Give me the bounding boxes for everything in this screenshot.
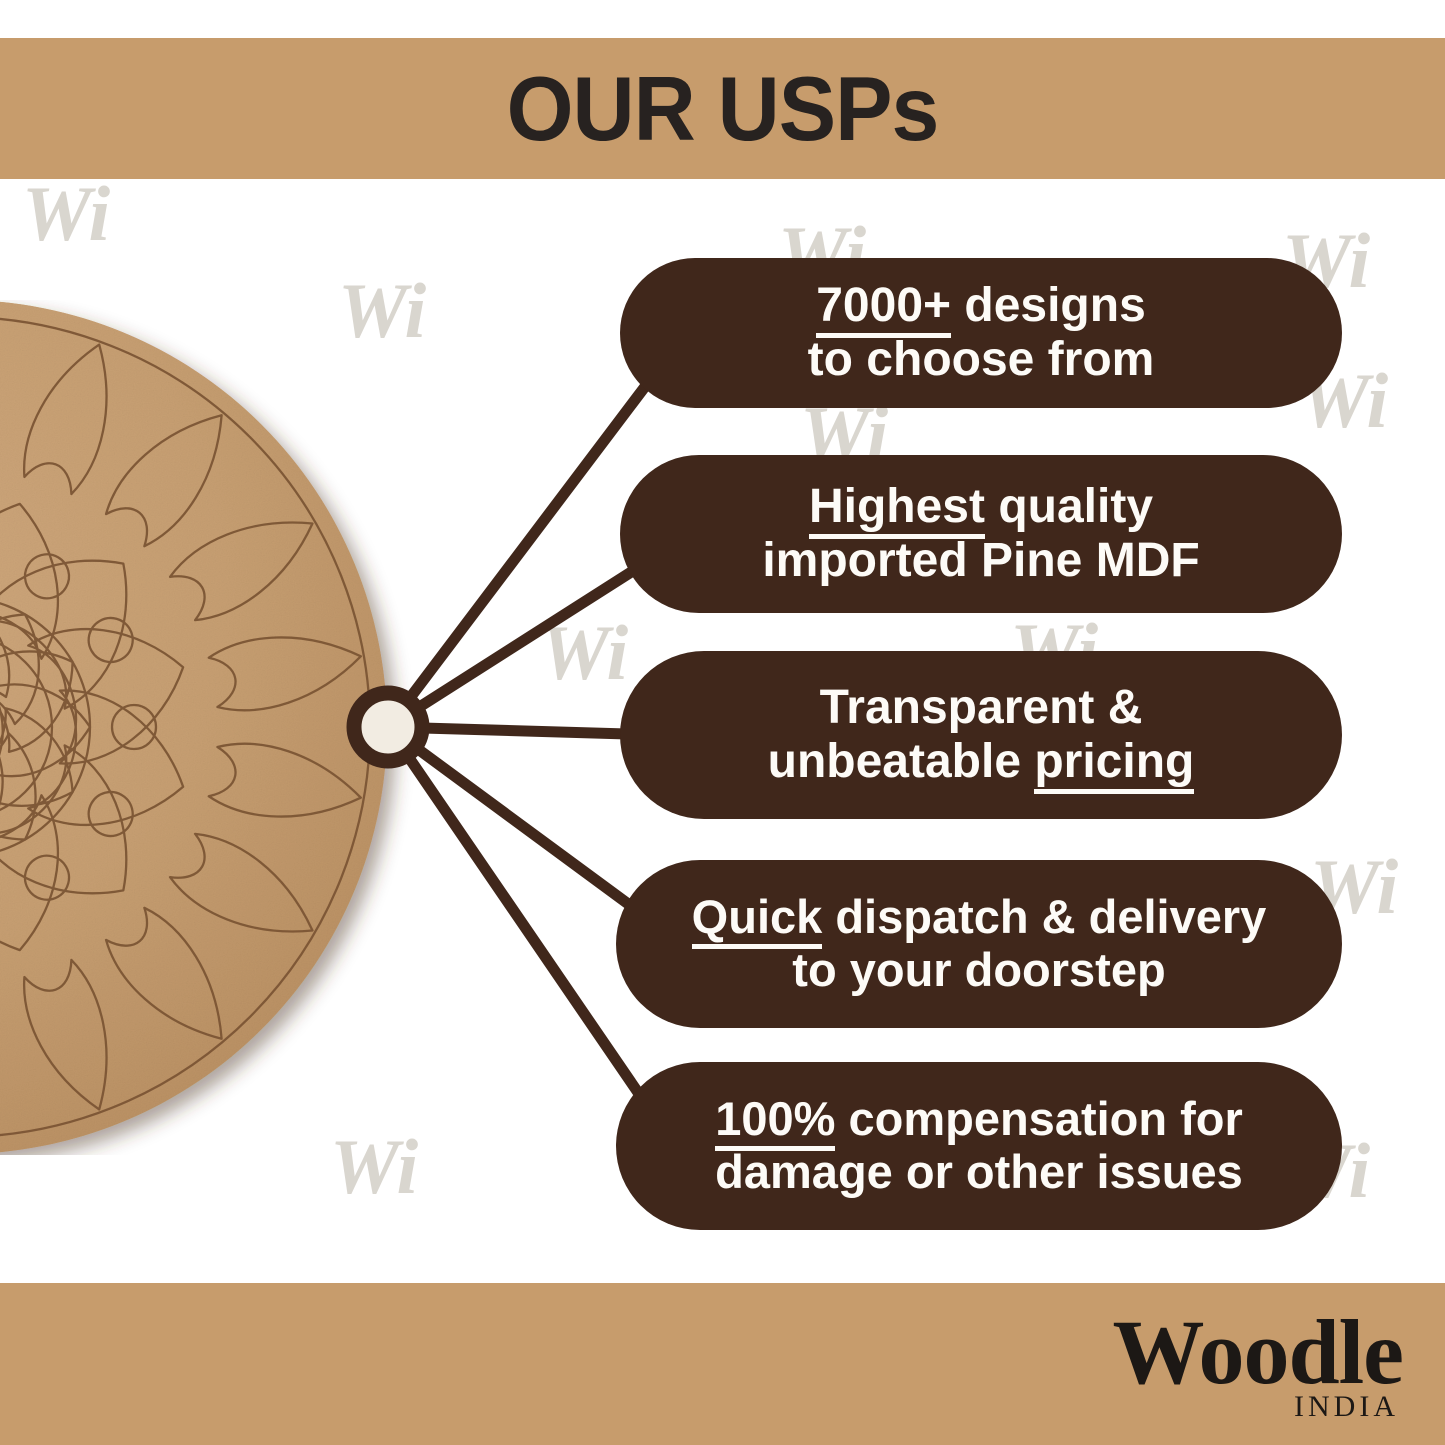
- connector-line-2: [388, 560, 650, 727]
- center-node: [354, 693, 422, 761]
- brand-logo-word: Woodle: [1113, 1306, 1403, 1398]
- watermark-wi: Wi: [540, 614, 628, 692]
- brand-logo: Woodle INDIA: [1113, 1306, 1403, 1422]
- usp-highlight-pricing: pricing: [1034, 735, 1194, 794]
- usp-rest-designs: designs: [951, 279, 1146, 332]
- watermark-wi: Wi: [330, 1128, 418, 1206]
- connector-line-4: [388, 727, 650, 920]
- watermark-wi: Wi: [338, 272, 426, 350]
- usp-line2-designs: to choose from: [808, 333, 1155, 386]
- page-title: OUR USPs: [0, 34, 1445, 183]
- usp-pill-pricing[interactable]: Transparent & unbeatable pricing: [620, 651, 1342, 819]
- usp-text-quality: Highest quality imported Pine MDF: [646, 480, 1316, 588]
- usp-line2-pre-pricing: unbeatable: [768, 735, 1035, 788]
- usp-line2-dispatch: to your doorstep: [792, 943, 1165, 996]
- usp-text-pricing: Transparent & unbeatable pricing: [646, 681, 1316, 789]
- usp-text-compensation: 100% compensation for damage or other is…: [642, 1093, 1316, 1198]
- usp-text-designs: 7000+ designs to choose from: [646, 279, 1316, 387]
- mandala-mdf-disc: [0, 300, 455, 1155]
- usp-line1-pricing: Transparent &: [820, 681, 1143, 734]
- usp-pill-quality[interactable]: Highest quality imported Pine MDF: [620, 455, 1342, 613]
- connector-line-1: [388, 380, 650, 727]
- usp-highlight-dispatch: Quick: [692, 890, 823, 949]
- usp-highlight-quality: Highest: [809, 480, 985, 539]
- usp-line2-quality: imported Pine MDF: [762, 534, 1199, 587]
- usp-pill-designs[interactable]: 7000+ designs to choose from: [620, 258, 1342, 408]
- usp-rest-compensation: compensation for: [835, 1092, 1242, 1145]
- usp-line2-compensation: damage or other issues: [715, 1145, 1243, 1198]
- usp-rest-quality: quality: [985, 480, 1153, 533]
- usp-pill-dispatch[interactable]: Quick dispatch & delivery to your doorst…: [616, 860, 1342, 1028]
- infographic-canvas: OUR USPs WiWiWiWiWiWiWiWiWiWiWi: [0, 0, 1445, 1445]
- usp-text-dispatch: Quick dispatch & delivery to your doorst…: [642, 891, 1316, 996]
- usp-rest-dispatch: dispatch & delivery: [822, 890, 1266, 943]
- usp-pill-compensation[interactable]: 100% compensation for damage or other is…: [616, 1062, 1342, 1230]
- connector-line-5: [388, 727, 650, 1110]
- watermark-wi: Wi: [22, 175, 110, 253]
- usp-highlight-designs: 7000+: [816, 279, 951, 338]
- usp-highlight-compensation: 100%: [715, 1092, 835, 1151]
